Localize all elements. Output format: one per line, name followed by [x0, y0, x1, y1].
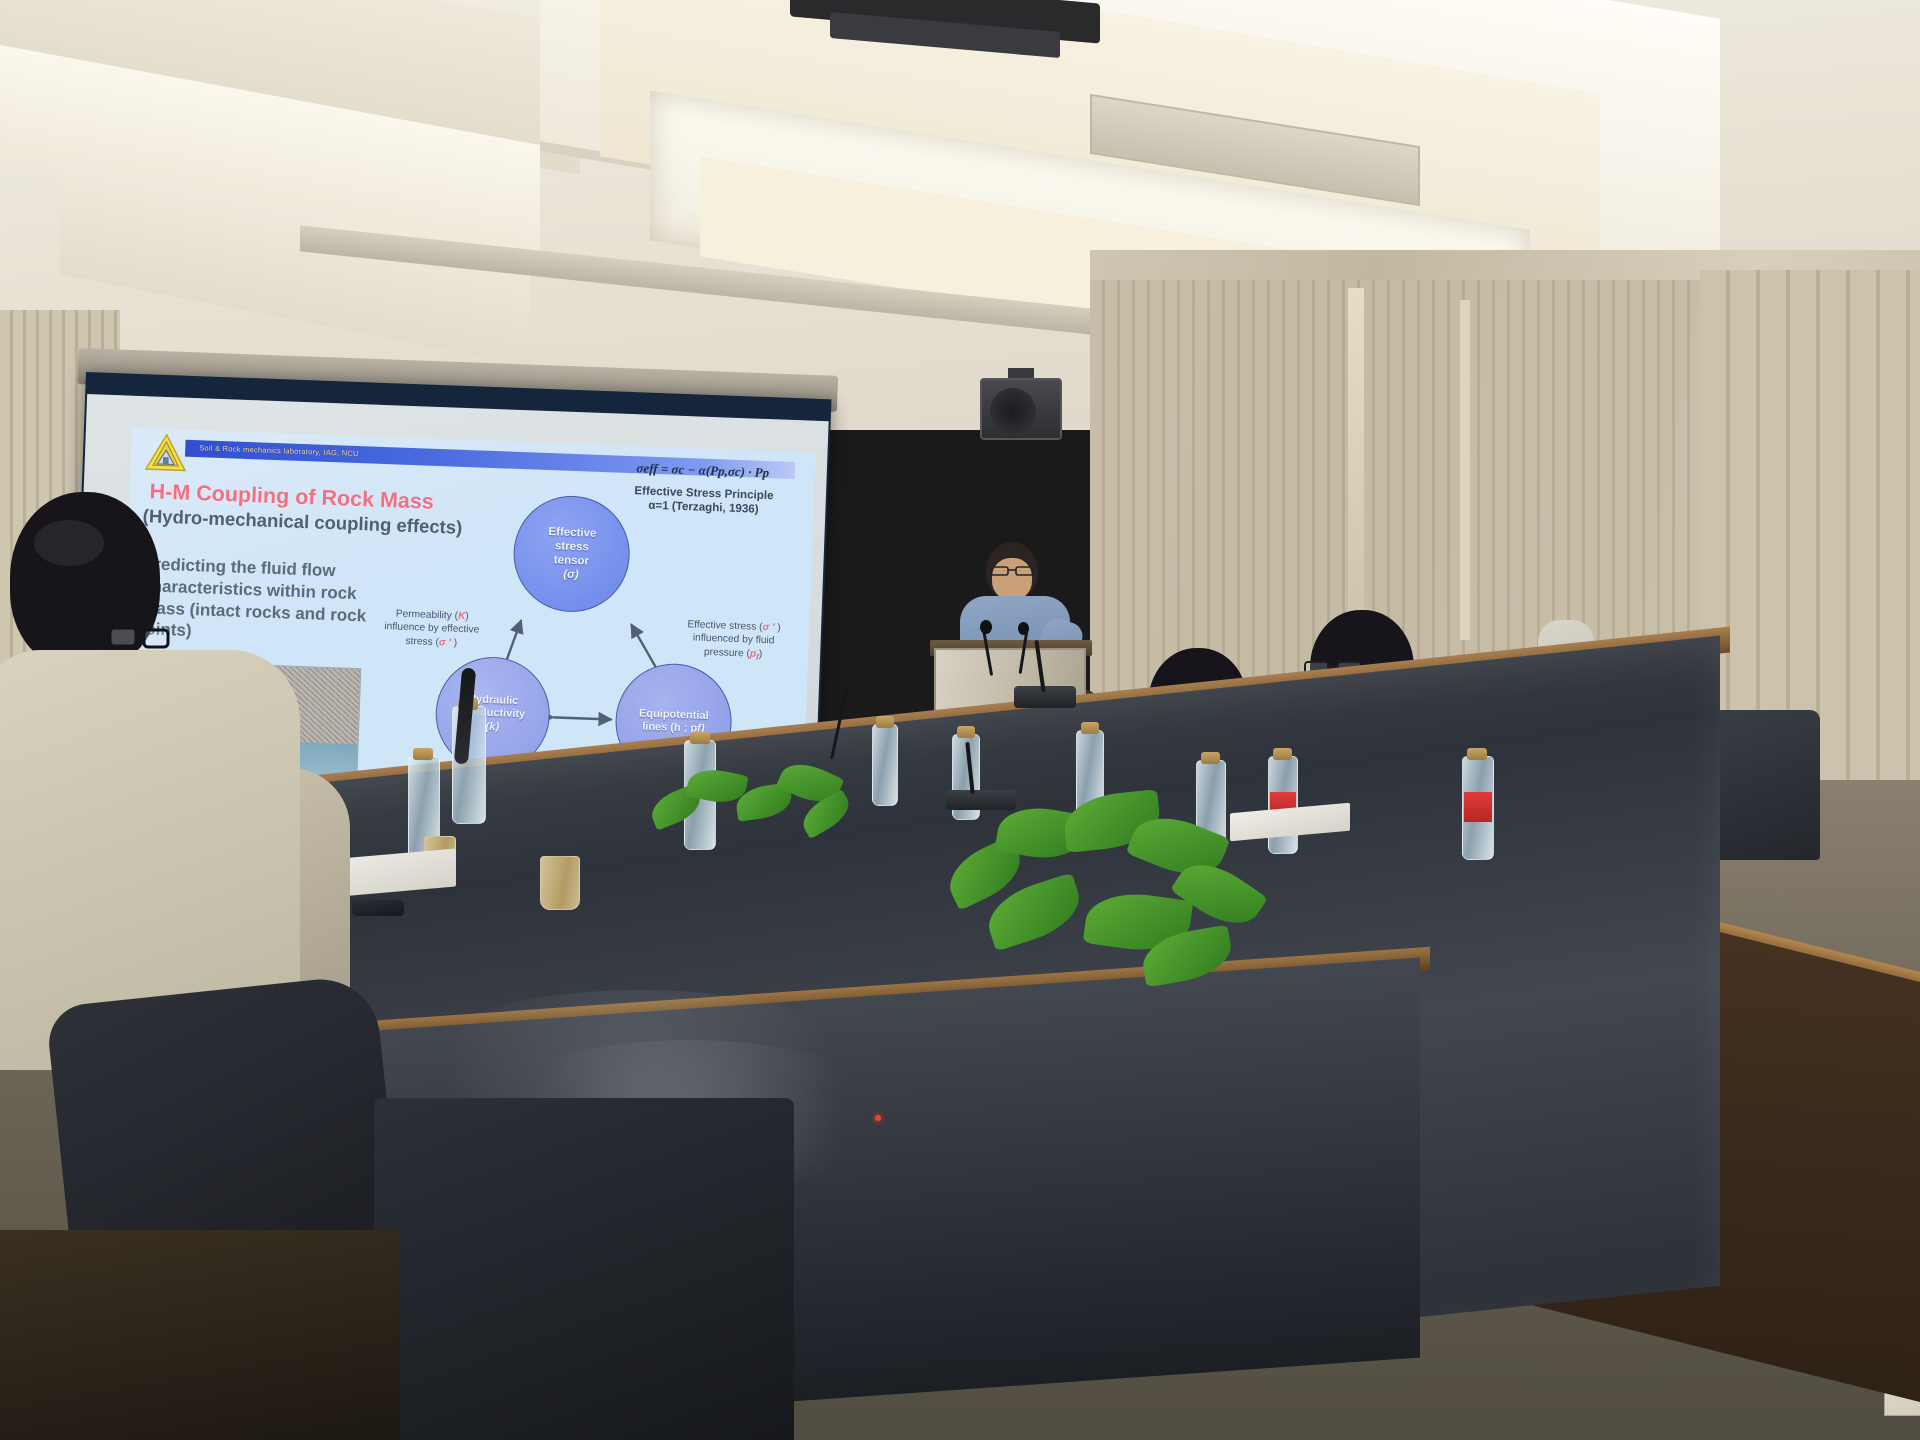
podium-mic-head: [980, 620, 992, 634]
wall-trim-strip: [1348, 288, 1364, 618]
perm-l1: Permeability (: [396, 609, 459, 622]
eff-l3-end: ): [759, 648, 763, 659]
node-top-line3: tensor: [547, 553, 595, 569]
perm-l3: stress (: [405, 635, 439, 647]
bottle-cap-3[interactable]: [1081, 722, 1099, 734]
conference-room-scene: Soil & Rock mechanics laboratory, IAG, N…: [0, 0, 1920, 1440]
presenter-face: [992, 558, 1032, 600]
eff-l1-symbol: σ ′: [762, 622, 774, 633]
perm-l1-end: ): [465, 611, 469, 622]
node-top-symbol: (σ): [563, 569, 579, 582]
bottle-cap-6[interactable]: [1467, 748, 1487, 760]
wall-trim-strip-2: [1460, 300, 1470, 640]
bottle-label-6: [1464, 792, 1492, 822]
wall-speaker: [980, 378, 1062, 440]
foreground-floor-shadow: [0, 1230, 400, 1440]
potted-plant-1: [640, 756, 860, 842]
bottle-cap-5[interactable]: [1273, 748, 1292, 760]
glasses-icon: [990, 566, 1034, 576]
paper-cup-2[interactable]: [540, 856, 580, 910]
perm-l3-end: ): [451, 637, 458, 648]
eff-l3: pressure (: [704, 646, 750, 659]
node-right-line2: lines (h ; p: [642, 721, 697, 735]
status-led-indicator: [875, 1115, 881, 1121]
foreground-chair-back: [374, 1098, 794, 1440]
phone-on-table[interactable]: [352, 900, 404, 916]
bottle-cap-4[interactable]: [1201, 752, 1220, 764]
bottle-cap-1[interactable]: [876, 716, 894, 728]
label-effective-stress: Effective stress (σ ′ ) influenced by fl…: [644, 617, 816, 665]
bottle-cap-2[interactable]: [957, 726, 975, 738]
label-permeability: Permeability (K) influence by effective …: [346, 606, 517, 652]
bottle-cap-9[interactable]: [690, 732, 710, 744]
bottle-cap-7[interactable]: [413, 748, 433, 760]
podium-mic-head-2: [1018, 622, 1029, 635]
water-bottle-1[interactable]: [872, 724, 898, 806]
node-left-symbol: (k): [485, 721, 499, 733]
eff-l1-end: ): [774, 622, 781, 633]
potted-plant-2: [946, 790, 1306, 980]
perm-l3-symbol: σ ′: [439, 637, 451, 648]
